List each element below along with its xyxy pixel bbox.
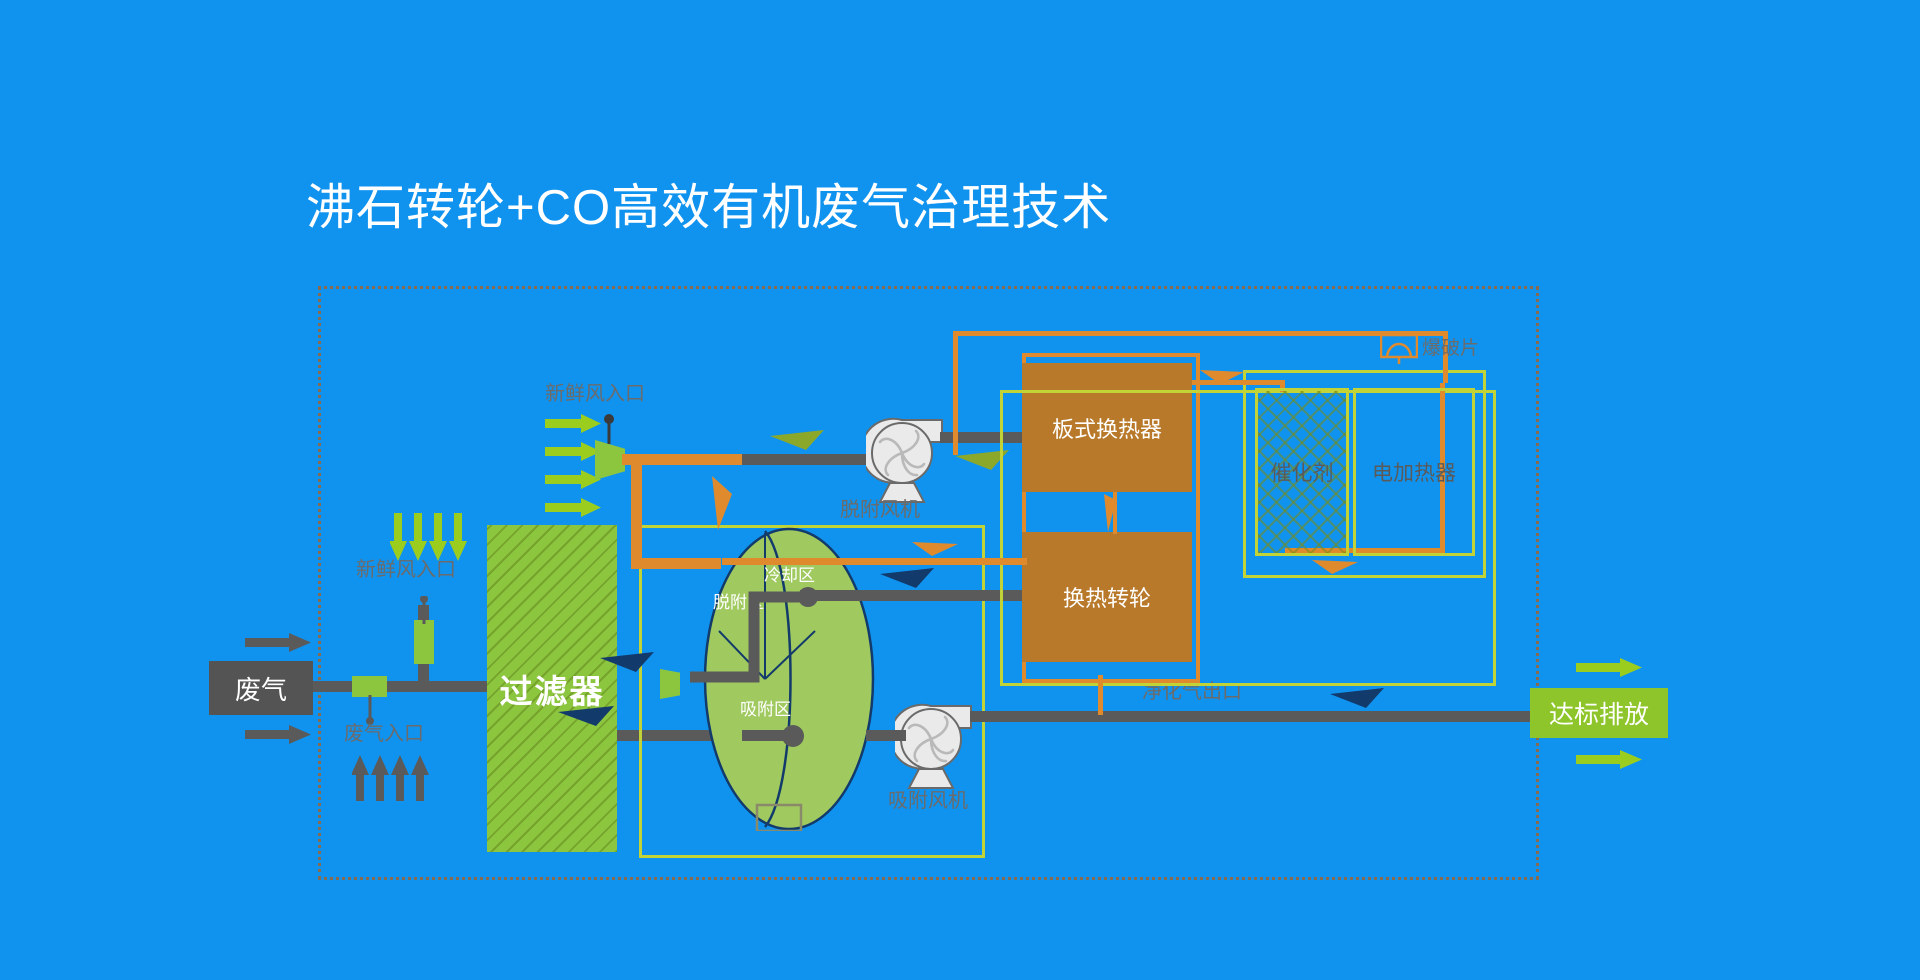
- rotor-zone-adsorption-label: 吸附区: [740, 701, 791, 718]
- arrow-rotor-duct-out: [600, 652, 658, 674]
- electric-heater: 电加热器: [1353, 388, 1475, 556]
- filter-unit: 过滤器: [487, 525, 617, 852]
- catalyst-label: 催化剂: [1271, 457, 1334, 487]
- arrow-hx-to-catalyst: [1200, 368, 1246, 386]
- waste-gas-inlet-up-arrows: [352, 755, 432, 803]
- pipe-orange-down-to-rotor: [631, 454, 642, 569]
- pipe-purified-gas-main: [970, 711, 1532, 722]
- fresh-air-inlet-low-label: 新鲜风入口: [356, 560, 456, 580]
- fresh-air-low-damper-stem-icon: [419, 596, 429, 624]
- inlet-valve-stem-icon: [365, 695, 375, 725]
- pipe-orange-into-rotor: [631, 558, 721, 569]
- page-title: 沸石转轮+CO高效有机废气治理技术: [306, 178, 1111, 238]
- waste-gas-box: 废气: [209, 661, 313, 715]
- pipe-to-desorption-fan: [742, 454, 872, 465]
- fresh-air-inlet-high-label: 新鲜风入口: [545, 384, 645, 404]
- waste-gas-label: 废气: [235, 670, 287, 707]
- arrow-purified-gas: [1330, 688, 1388, 710]
- pipe-hx-top-recirc-left-down: [953, 331, 958, 455]
- fresh-air-high-damper-stem-icon: [603, 414, 615, 444]
- arrow-hx-rotor-to-zeolite: [910, 540, 960, 558]
- rupture-disc-icon: [1380, 334, 1418, 364]
- pipe-rotor-cool-to-hx: [800, 590, 1022, 601]
- rotor-zone-cooling-label: 冷却区: [764, 567, 815, 584]
- arrow-rotor-cool-to-hx: [880, 568, 938, 590]
- electric-heater-label: 电加热器: [1372, 457, 1456, 487]
- arrow-orange-up-branch: [712, 474, 734, 530]
- arrow-catalyst-return: [1310, 558, 1360, 576]
- pipe-rotor-to-adsorption-fan: [866, 730, 906, 741]
- arrow-filter-to-rotor: [558, 706, 618, 728]
- rotor-duct-damper-icon: [660, 669, 680, 699]
- inlet-valve-icon: [352, 676, 387, 697]
- rotor-shaft-hub-icon: [780, 723, 806, 749]
- pipe-hx-top-recirc-h: [953, 331, 1448, 336]
- fresh-air-low-damper-icon: [414, 620, 434, 664]
- desorption-fan: [866, 416, 948, 504]
- diagram-canvas: 沸石转轮+CO高效有机废气治理技术 废气 废气入口 新鲜风入口: [0, 0, 1920, 980]
- adsorption-fan-label: 吸附风机: [888, 791, 968, 811]
- rotor-internal-duct: [690, 585, 820, 700]
- desorption-fan-label: 脱附风机: [840, 500, 920, 520]
- rupture-disc-label: 爆破片: [1422, 339, 1479, 358]
- pipe-hx-rotor-to-zeolite: [722, 558, 1027, 565]
- adsorption-fan: [895, 702, 977, 790]
- catalyst-bed: 催化剂: [1255, 388, 1349, 556]
- pipe-waste-to-filter: [313, 681, 493, 692]
- fresh-air-inlet-low-arrows: [390, 513, 468, 561]
- waste-gas-inlet-label: 废气入口: [344, 724, 424, 744]
- discharge-arrows: [1576, 655, 1646, 775]
- arrow-to-desorption-fan: [770, 430, 828, 452]
- pipe-hx-bottom-to-outlet: [1098, 675, 1103, 715]
